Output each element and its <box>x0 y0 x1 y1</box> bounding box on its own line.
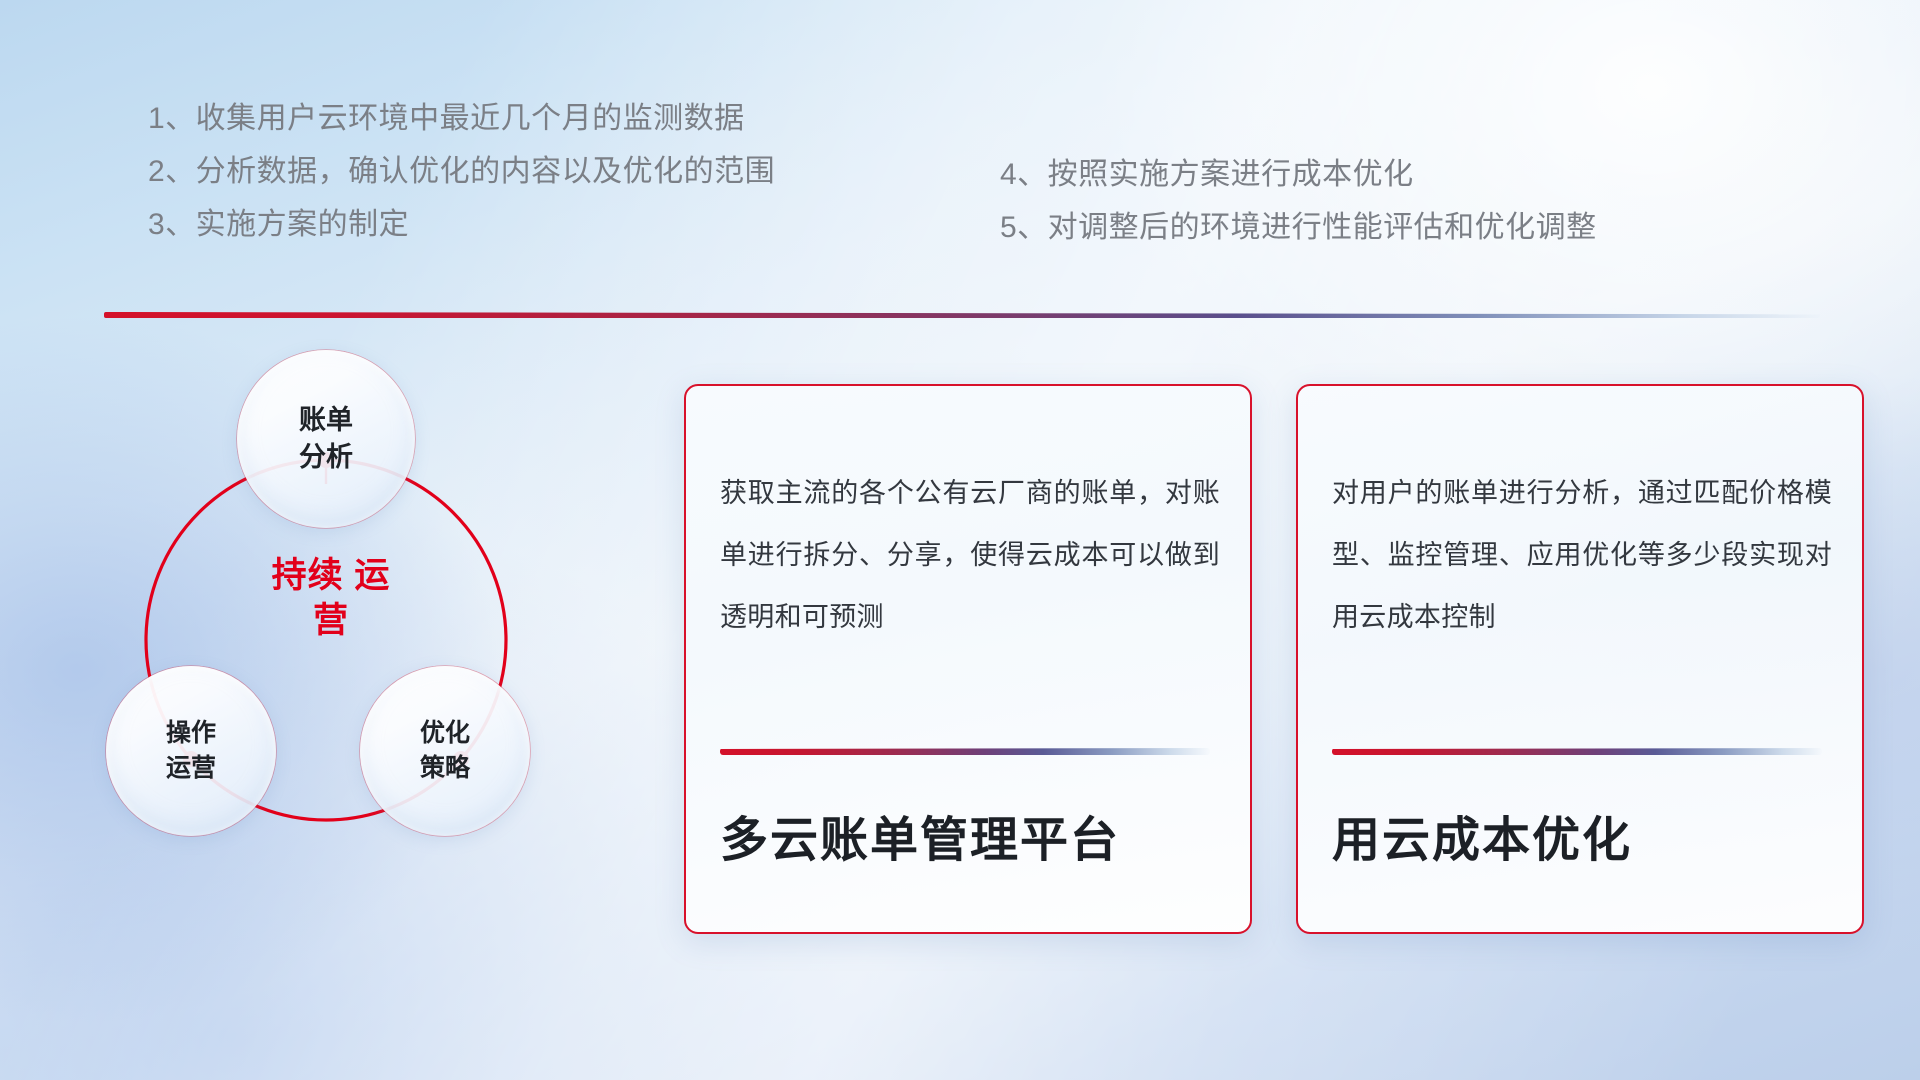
steps-right-column: 4、按照实施方案进行成本优化 5、对调整后的环境进行性能评估和优化调整 <box>1000 148 1720 254</box>
node-label-line1: 账单 <box>299 402 353 439</box>
diagram-node-optimization-strategy[interactable]: 优化 策略 <box>360 666 530 836</box>
card-title: 多云账单管理平台 <box>720 800 1120 870</box>
step-item-1: 1、收集用户云环境中最近几个月的监测数据 <box>148 92 848 145</box>
card-title: 用云成本优化 <box>1332 800 1632 870</box>
card-body-text: 对用户的账单进行分析，通过匹配价格模型、监控管理、应用优化等多少段实现对用云成本… <box>1332 462 1832 648</box>
diagram-center-label: 持续 运营 <box>256 553 406 643</box>
node-label-line2: 策略 <box>420 751 470 786</box>
node-label-line2: 运营 <box>166 751 216 786</box>
steps-left-column: 1、收集用户云环境中最近几个月的监测数据 2、分析数据，确认优化的内容以及优化的… <box>148 92 848 251</box>
header-gradient-divider <box>104 312 1820 318</box>
node-label-line1: 操作 <box>166 716 216 751</box>
continuous-operations-diagram: 账单 分析 操作 运营 优化 策略 持续 运营 <box>96 348 636 948</box>
node-label-line1: 优化 <box>420 716 470 751</box>
card-gradient-divider <box>720 748 1210 755</box>
step-item-2: 2、分析数据，确认优化的内容以及优化的范围 <box>148 145 848 198</box>
center-label-line1: 持续 <box>272 556 344 595</box>
node-label-line2: 分析 <box>299 439 353 476</box>
slide-canvas: 1、收集用户云环境中最近几个月的监测数据 2、分析数据，确认优化的内容以及优化的… <box>0 0 1920 1080</box>
diagram-node-operations[interactable]: 操作 运营 <box>106 666 276 836</box>
card-multi-cloud-billing-platform[interactable]: 获取主流的各个公有云厂商的账单，对账单进行拆分、分享，使得云成本可以做到透明和可… <box>684 384 1252 934</box>
card-gradient-divider <box>1332 748 1822 755</box>
step-item-5: 5、对调整后的环境进行性能评估和优化调整 <box>1000 201 1720 254</box>
card-body-text: 获取主流的各个公有云厂商的账单，对账单进行拆分、分享，使得云成本可以做到透明和可… <box>720 462 1220 648</box>
card-cloud-cost-optimization[interactable]: 对用户的账单进行分析，通过匹配价格模型、监控管理、应用优化等多少段实现对用云成本… <box>1296 384 1864 934</box>
step-item-3: 3、实施方案的制定 <box>148 198 848 251</box>
step-item-4: 4、按照实施方案进行成本优化 <box>1000 148 1720 201</box>
diagram-node-billing-analysis[interactable]: 账单 分析 <box>237 350 415 528</box>
